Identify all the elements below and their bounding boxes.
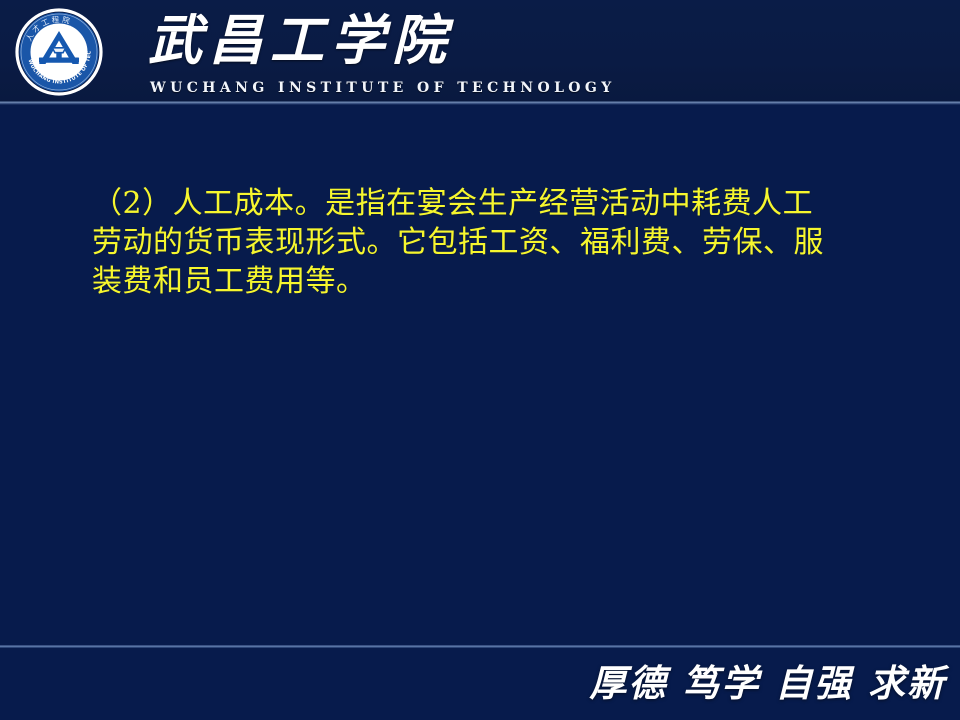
brand-title-english: WUCHANG INSTITUTE OF TECHNOLOGY (150, 79, 616, 97)
brand-title-chinese: 武昌工学院 (148, 6, 448, 74)
footer-divider-line (0, 645, 960, 648)
header-divider-line (0, 101, 960, 105)
presentation-slide: 人 才 工 程 院 WUCHANG INSTITUTE OF TECHNOLOG… (0, 0, 960, 720)
school-motto-calligraphy: 厚德 笃学 自强 求新 (589, 657, 946, 709)
wuchang-institute-seal-logo-icon: 人 才 工 程 院 WUCHANG INSTITUTE OF TECHNOLOG… (13, 6, 105, 98)
slide-body-paragraph: （2）人工成本。是指在宴会生产经营活动中耗费人工劳动的货币表现形式。它包括工资、… (92, 184, 832, 301)
